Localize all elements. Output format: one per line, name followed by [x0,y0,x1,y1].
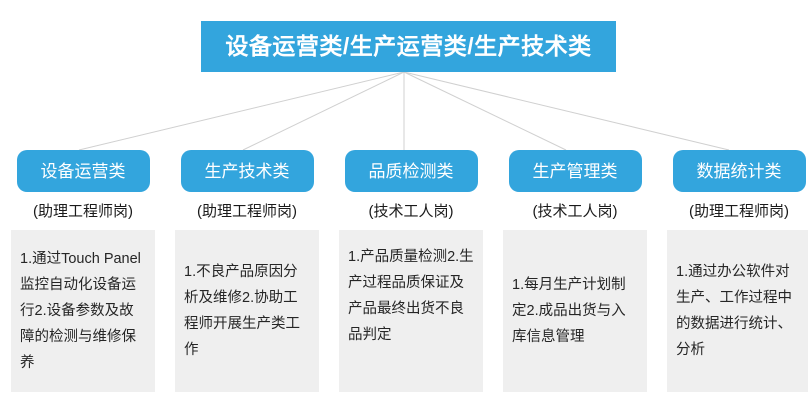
category-column-2: 生产技术类 (助理工程师岗) 1.不良产品原因分析及维修2.协助工程师开展生产类… [175,150,319,392]
category-header-label-2: 生产技术类 [205,163,290,180]
category-body-panel-5: 1.通过办公软件对生产、工作过程中的数据进行统计、分析 [667,230,808,392]
connector-line-5 [404,72,729,150]
category-body-panel-3: 1.产品质量检测2.生产过程品质保证及产品最终出货不良品判定 [339,230,483,392]
category-body-panel-1: 1.通过Touch Panel监控自动化设备运行2.设备参数及故障的检测与维修保… [11,230,155,392]
category-column-1: 设备运营类 (助理工程师岗) 1.通过Touch Panel监控自动化设备运行2… [11,150,155,392]
category-header-label-3: 品质检测类 [369,163,454,180]
category-columns: 设备运营类 (助理工程师岗) 1.通过Touch Panel监控自动化设备运行2… [11,150,797,392]
category-header-label-4: 生产管理类 [533,163,618,180]
root-title-box: 设备运营类/生产运营类/生产技术类 [201,21,616,72]
category-body-text-1: 1.通过Touch Panel监控自动化设备运行2.设备参数及故障的检测与维修保… [20,246,146,376]
category-header-pill-1[interactable]: 设备运营类 [17,150,150,192]
connector-line-2 [243,72,404,150]
category-body-text-4: 1.每月生产计划制定2.成品出货与入库信息管理 [512,272,638,350]
category-header-label-5: 数据统计类 [697,163,782,180]
category-subtitle-1: (助理工程师岗) [33,199,133,223]
category-subtitle-5: (助理工程师岗) [689,199,789,223]
category-body-text-3: 1.产品质量检测2.生产过程品质保证及产品最终出货不良品判定 [348,244,474,348]
category-body-text-2: 1.不良产品原因分析及维修2.协助工程师开展生产类工作 [184,259,310,363]
category-body-panel-4: 1.每月生产计划制定2.成品出货与入库信息管理 [503,230,647,392]
connector-line-4 [404,72,566,150]
category-body-panel-2: 1.不良产品原因分析及维修2.协助工程师开展生产类工作 [175,230,319,392]
category-header-pill-4[interactable]: 生产管理类 [509,150,642,192]
category-subtitle-3: (技术工人岗) [369,199,454,223]
category-header-pill-5[interactable]: 数据统计类 [673,150,806,192]
category-header-pill-3[interactable]: 品质检测类 [345,150,478,192]
category-column-5: 数据统计类 (助理工程师岗) 1.通过办公软件对生产、工作过程中的数据进行统计、… [667,150,808,392]
category-subtitle-2: (助理工程师岗) [197,199,297,223]
category-column-3: 品质检测类 (技术工人岗) 1.产品质量检测2.生产过程品质保证及产品最终出货不… [339,150,483,392]
category-subtitle-4: (技术工人岗) [533,199,618,223]
category-header-label-1: 设备运营类 [41,163,126,180]
root-title-label: 设备运营类/生产运营类/生产技术类 [225,35,591,58]
category-column-4: 生产管理类 (技术工人岗) 1.每月生产计划制定2.成品出货与入库信息管理 [503,150,647,392]
category-body-text-5: 1.通过办公软件对生产、工作过程中的数据进行统计、分析 [676,259,802,363]
connector-line-1 [79,72,404,150]
category-header-pill-2[interactable]: 生产技术类 [181,150,314,192]
